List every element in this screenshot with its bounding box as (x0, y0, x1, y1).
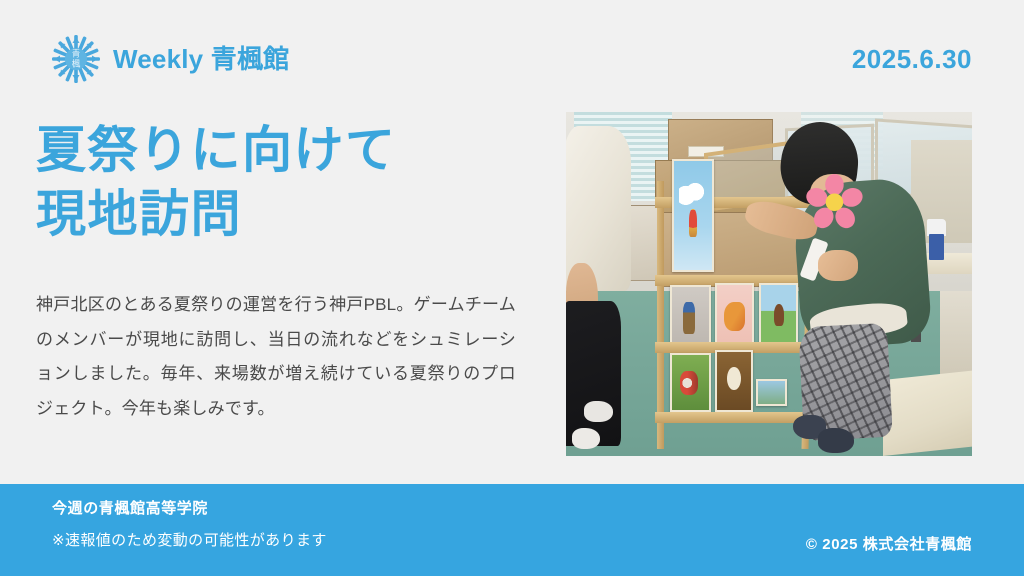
photo-spray-bottle (929, 234, 943, 260)
headline-line-1: 夏祭りに向けて (36, 118, 506, 182)
footer-title: 今週の青楓館高等学院 (52, 498, 327, 521)
photo-person-right-hand (818, 250, 859, 281)
photo-person-right-shoe (818, 428, 855, 452)
footer-left-block: 今週の青楓館高等学院 ※速報値のため変動の可能性があります (52, 498, 327, 551)
footer-note: ※速報値のため変動の可能性があります (52, 530, 327, 551)
article-photo (566, 112, 972, 456)
slide-footer: 今週の青楓館高等学院 ※速報値のため変動の可能性があります © 2025 株式会… (0, 484, 1024, 576)
photo-illustration-card (756, 379, 787, 406)
photo-illustration-card (672, 159, 714, 272)
page-title: 夏祭りに向けて 現地訪問 (36, 118, 506, 246)
headline-line-2: 現地訪問 (36, 182, 506, 246)
photo-illustration-card (670, 285, 711, 347)
photo-illustration-card (715, 350, 752, 412)
brand-lockup: 青 楓 Weekly 青楓館 (52, 35, 289, 83)
flower-sticker-icon (804, 174, 865, 232)
newsletter-slide: 青 楓 Weekly 青楓館 2025.6.30 夏祭りに向けて 現地訪問 神戸… (0, 0, 1024, 576)
photo-person-left-shoe (584, 401, 612, 422)
article-body: 神戸北区のとある夏祭りの運営を行う神戸PBL。ゲームチームのメンバーが現地に訪問… (36, 288, 516, 426)
photo-illustration-card (715, 283, 754, 347)
photo-rack-post (657, 181, 664, 449)
photo-cabinet (940, 291, 972, 380)
photo-person-left-pants (566, 301, 621, 445)
slide-header: 青 楓 Weekly 青楓館 2025.6.30 (52, 34, 972, 84)
photo-illustration-card (759, 283, 798, 345)
photo-person-left-shoe (572, 428, 600, 449)
issue-date: 2025.6.30 (852, 46, 972, 72)
svg-text:青: 青 (72, 49, 81, 60)
photo-foreground-table (883, 370, 972, 456)
photo-scene (566, 112, 972, 456)
footer-copyright: © 2025 株式会社青楓館 (806, 533, 972, 554)
photo-illustration-card (670, 353, 711, 412)
brand-name: Weekly 青楓館 (113, 46, 289, 72)
snowflake-crest-icon: 青 楓 (52, 35, 100, 83)
svg-text:楓: 楓 (72, 59, 81, 70)
